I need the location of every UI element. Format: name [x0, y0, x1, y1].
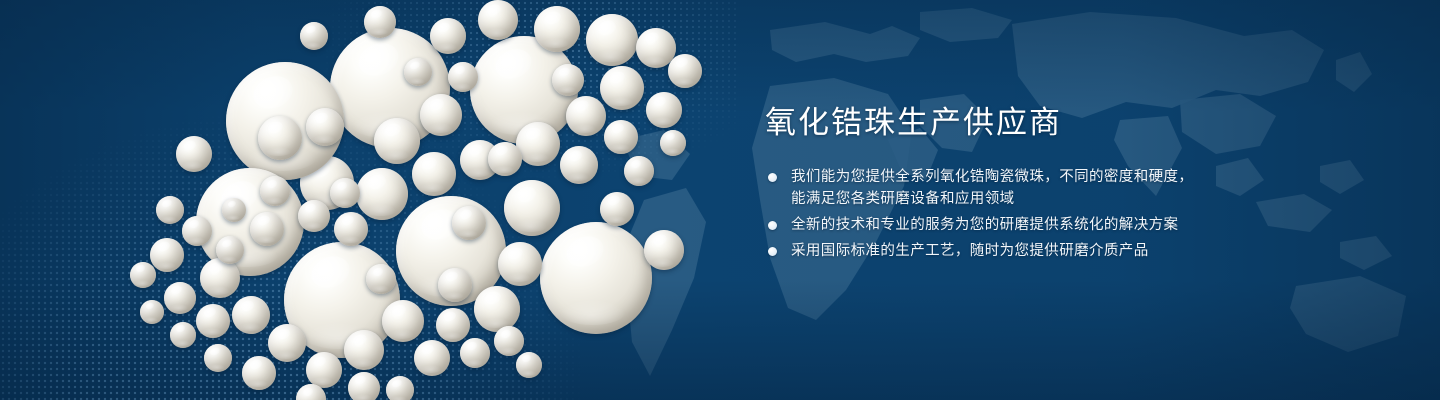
feature-text-line2: 能满足您各类研磨设备和应用领域: [791, 188, 1285, 210]
feature-list: 我们能为您提供全系列氧化锆陶瓷微珠，不同的密度和硬度， 能满足您各类研磨设备和应…: [765, 166, 1285, 262]
bullet-dot-icon: [768, 221, 777, 230]
feature-text-line1: 采用国际标准的生产工艺，随时为您提供研磨介质产品: [791, 243, 1149, 259]
page-title: 氧化锆珠生产供应商: [765, 106, 1285, 140]
hero-banner: 氧化锆珠生产供应商 我们能为您提供全系列氧化锆陶瓷微珠，不同的密度和硬度， 能满…: [0, 0, 1440, 400]
feature-text-line1: 全新的技术和专业的服务为您的研磨提供系统化的解决方案: [791, 217, 1178, 233]
banner-copy: 氧化锆珠生产供应商 我们能为您提供全系列氧化锆陶瓷微珠，不同的密度和硬度， 能满…: [765, 106, 1285, 266]
list-item: 全新的技术和专业的服务为您的研磨提供系统化的解决方案: [765, 214, 1285, 236]
feature-text-line1: 我们能为您提供全系列氧化锆陶瓷微珠，不同的密度和硬度，: [791, 169, 1193, 185]
zirconia-beads-image: [0, 0, 800, 400]
bullet-dot-icon: [768, 173, 777, 182]
bullet-dot-icon: [768, 247, 777, 256]
list-item: 我们能为您提供全系列氧化锆陶瓷微珠，不同的密度和硬度， 能满足您各类研磨设备和应…: [765, 166, 1285, 210]
list-item: 采用国际标准的生产工艺，随时为您提供研磨介质产品: [765, 240, 1285, 262]
